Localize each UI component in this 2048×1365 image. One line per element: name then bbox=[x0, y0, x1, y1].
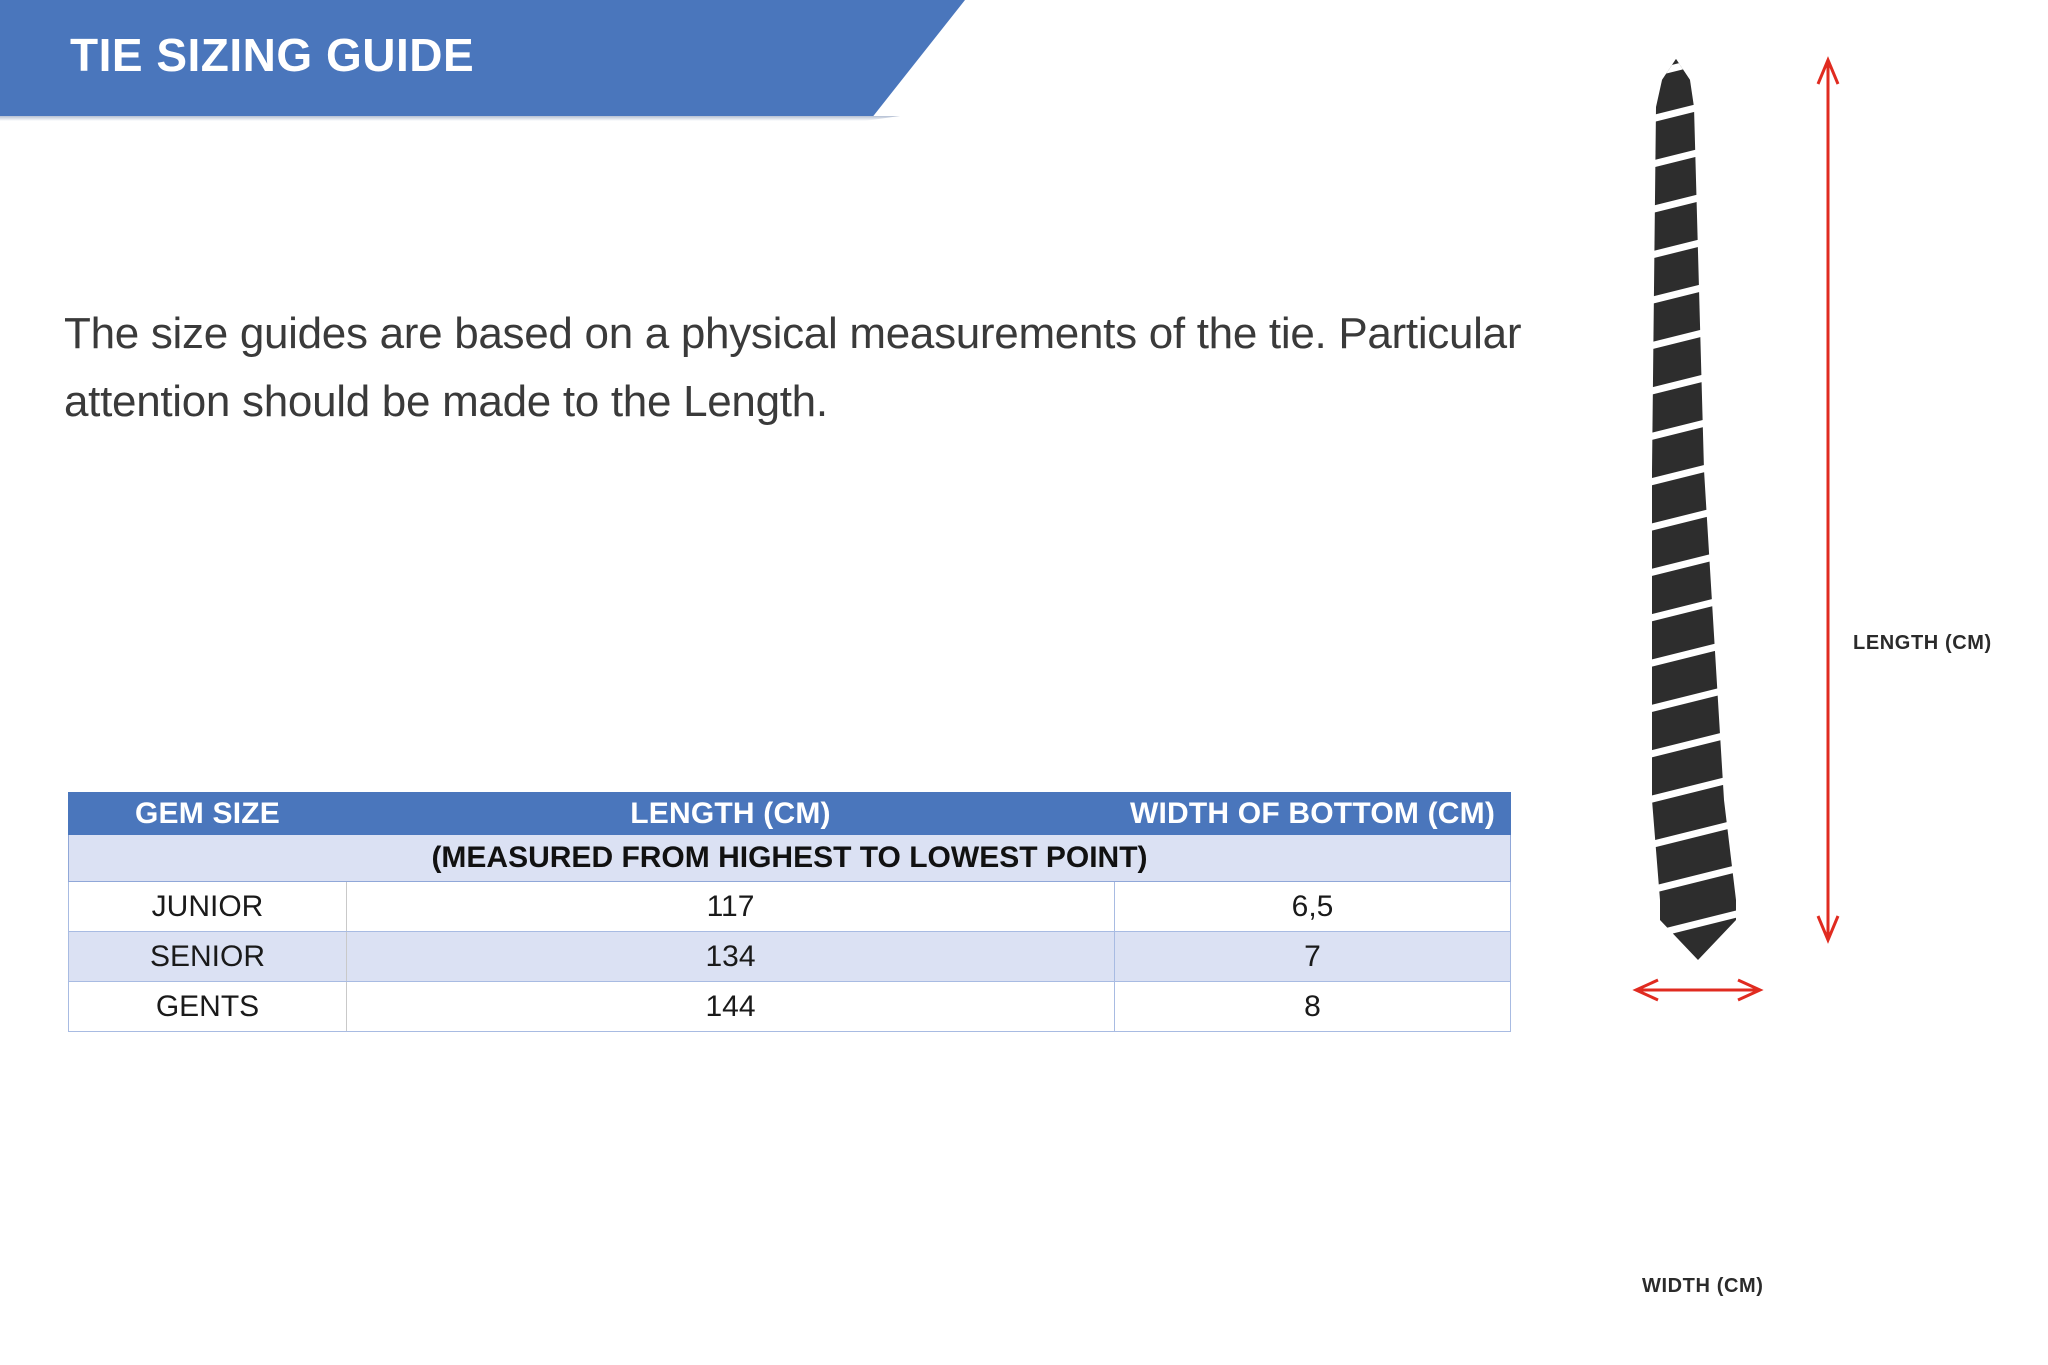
cell-gem-size: JUNIOR bbox=[69, 882, 347, 932]
column-header-length: LENGTH (CM) bbox=[347, 793, 1115, 835]
header-banner-shadow bbox=[0, 116, 900, 121]
cell-length: 144 bbox=[347, 982, 1115, 1032]
table-header-row: GEM SIZE LENGTH (CM) WIDTH OF BOTTOM (CM… bbox=[69, 793, 1511, 835]
intro-paragraph: The size guides are based on a physical … bbox=[64, 300, 1584, 436]
page-title: TIE SIZING GUIDE bbox=[70, 28, 474, 82]
table-body: (MEASURED FROM HIGHEST TO LOWEST POINT) … bbox=[69, 835, 1511, 1032]
width-arrow-icon bbox=[1636, 980, 1760, 1000]
cell-width: 7 bbox=[1115, 932, 1511, 982]
column-header-width-of-bottom: WIDTH OF BOTTOM (CM) bbox=[1115, 793, 1511, 835]
table-header: GEM SIZE LENGTH (CM) WIDTH OF BOTTOM (CM… bbox=[69, 793, 1511, 835]
length-arrow-icon bbox=[1818, 60, 1838, 940]
table-subheader-note: (MEASURED FROM HIGHEST TO LOWEST POINT) bbox=[69, 835, 1511, 882]
size-table: GEM SIZE LENGTH (CM) WIDTH OF BOTTOM (CM… bbox=[68, 792, 1511, 1032]
cell-gem-size: SENIOR bbox=[69, 932, 347, 982]
table-row: SENIOR 134 7 bbox=[69, 932, 1511, 982]
cell-width: 6,5 bbox=[1115, 882, 1511, 932]
column-header-gem-size: GEM SIZE bbox=[69, 793, 347, 835]
table-row: JUNIOR 117 6,5 bbox=[69, 882, 1511, 932]
tie-diagram bbox=[1590, 40, 2048, 1040]
cell-length: 117 bbox=[347, 882, 1115, 932]
cell-width: 8 bbox=[1115, 982, 1511, 1032]
length-dimension-label: LENGTH (CM) bbox=[1853, 632, 1992, 655]
cell-length: 134 bbox=[347, 932, 1115, 982]
table-subheader-row: (MEASURED FROM HIGHEST TO LOWEST POINT) bbox=[69, 835, 1511, 882]
cell-gem-size: GENTS bbox=[69, 982, 347, 1032]
width-dimension-label: WIDTH (CM) bbox=[1642, 1275, 1764, 1298]
table-row: GENTS 144 8 bbox=[69, 982, 1511, 1032]
tie-body-icon bbox=[1590, 40, 1810, 1040]
